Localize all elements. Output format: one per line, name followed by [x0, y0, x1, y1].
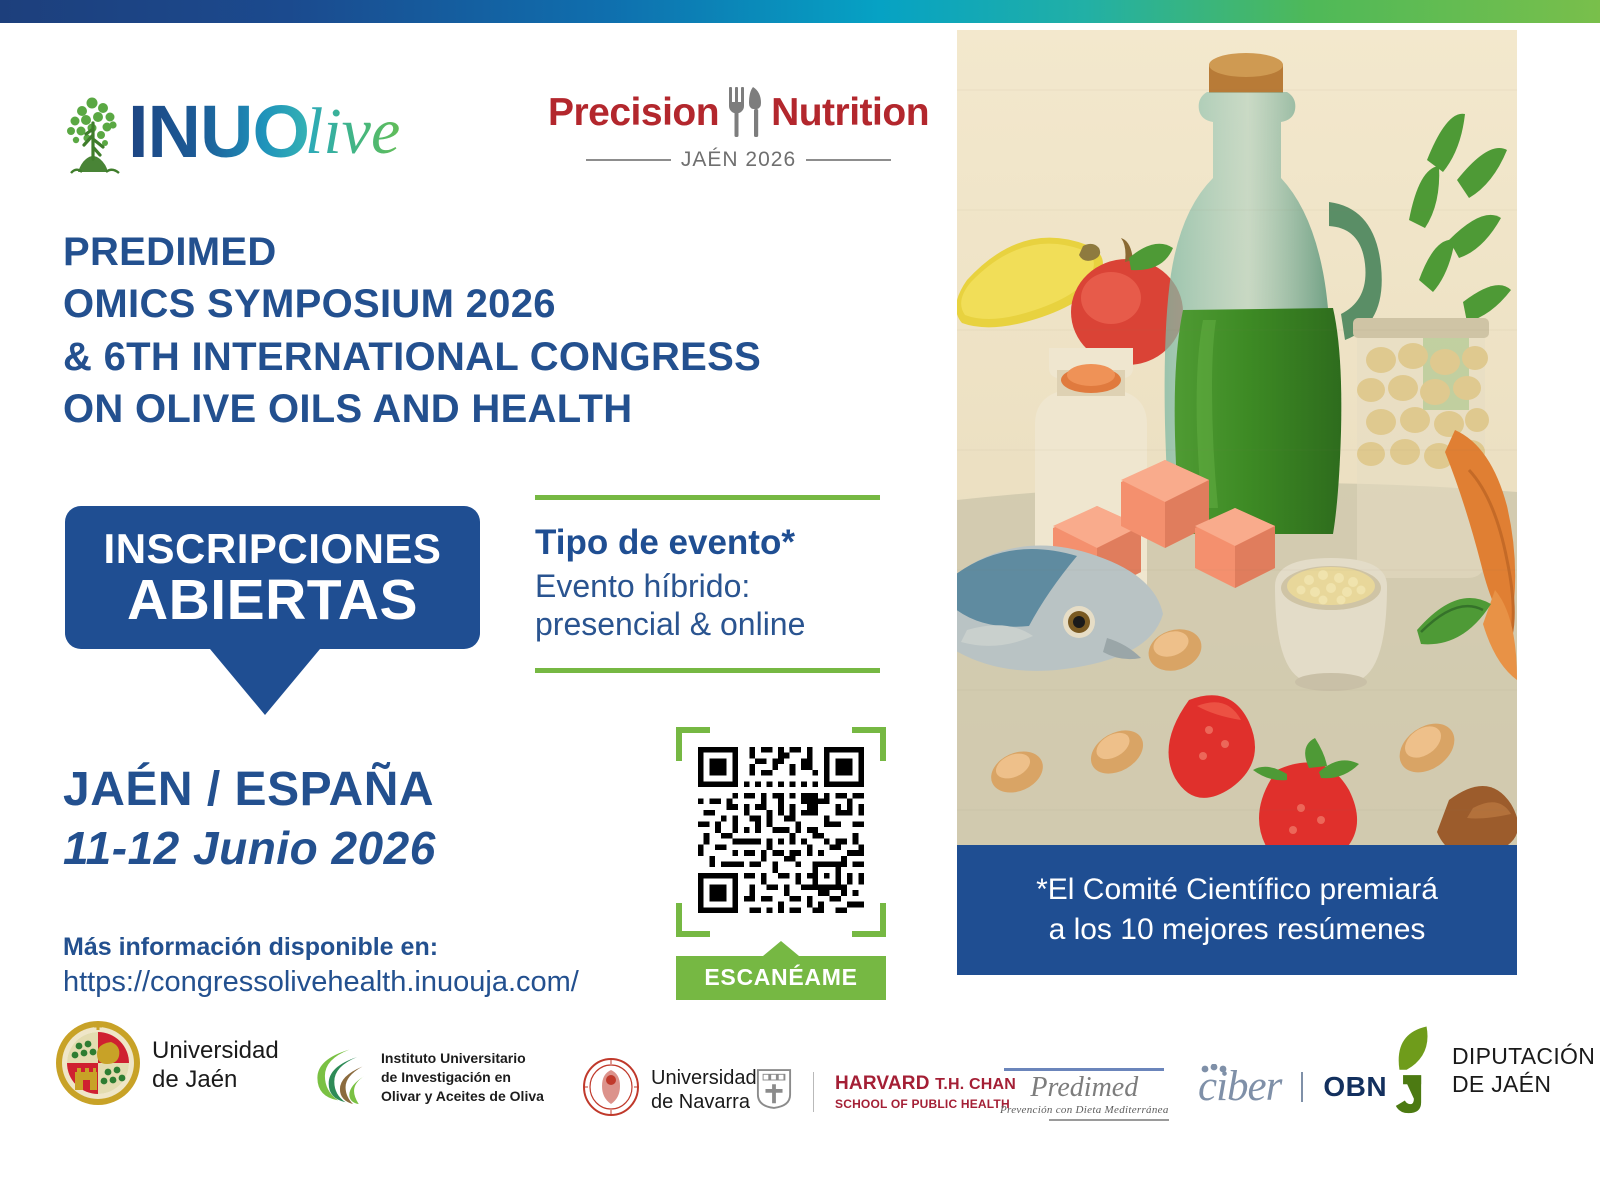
jaen-leaf-j-icon	[1385, 1022, 1441, 1119]
predimed-rule-top	[1004, 1068, 1164, 1071]
top-gradient-bar	[0, 0, 1600, 23]
logo-instituto-olivar[interactable]: Instituto Universitario de Investigación…	[308, 1044, 544, 1111]
obn-text: OBN	[1323, 1071, 1387, 1103]
registration-badge-pointer	[210, 649, 320, 715]
olive-drop-icon	[308, 1044, 370, 1111]
ciber-wordmark: ciber	[1198, 1068, 1281, 1107]
note-line1: *El Comité Científico premiará	[1036, 873, 1438, 906]
more-info-heading: Más información disponible en:	[63, 931, 579, 964]
uja-label: Universidad de Jaén	[152, 1037, 279, 1094]
precision-nutrition-top-row: Precision	[586, 85, 891, 139]
predimed-rule-bottom	[1049, 1119, 1169, 1121]
inuolive-logo[interactable]: INUO live	[62, 89, 400, 175]
predimed-name: Predimed	[1030, 1072, 1138, 1103]
unav-line2: de Navarra	[651, 1091, 750, 1113]
harvard-line3: SCHOOL OF PUBLIC HEALTH	[835, 1097, 1016, 1111]
uja-seal-icon	[55, 1020, 141, 1111]
more-info-block: Más información disponible en: https://c…	[63, 931, 579, 1001]
title-line-1: PREDIMED	[63, 226, 943, 278]
event-type-heading: Tipo de evento*	[535, 523, 880, 562]
registration-badge-line1: INSCRIPCIONES	[65, 528, 480, 571]
unav-line1: Universidad	[651, 1067, 757, 1089]
event-type-body-line2: presencial & online	[535, 606, 880, 644]
harvard-label: HARVARD T.H. CHAN SCHOOL OF PUBLIC HEALT…	[835, 1073, 1016, 1111]
qr-block[interactable]: ESCANÉAME	[676, 727, 886, 1000]
event-type-rule-bottom	[535, 668, 880, 673]
title-line-4: ON OLIVE OILS AND HEALTH	[63, 383, 943, 435]
event-type-body-line1: Evento híbrido:	[535, 568, 880, 606]
rule-left	[586, 159, 671, 161]
registration-badge-line2: ABIERTAS	[65, 571, 480, 629]
predimed-label: Predimed Prevención con Dieta Mediterrán…	[1000, 1068, 1169, 1121]
predimed-wordmark: Predimed	[1000, 1074, 1169, 1102]
precision-nutrition-logo[interactable]: Precision	[586, 85, 891, 172]
ciber-divider	[1301, 1072, 1303, 1102]
diputacion-label: DIPUTACIÓN DE JAÉN	[1452, 1043, 1595, 1097]
note-line2: a los 10 mejores resúmenes	[1049, 913, 1426, 946]
title-line-2: OMICS SYMPOSIUM 2026	[63, 278, 943, 330]
scan-me-pointer	[763, 941, 799, 956]
harvard-divider	[813, 1072, 814, 1112]
precision-word: Precision	[548, 93, 719, 132]
event-type-block: Tipo de evento* Evento híbrido: presenci…	[535, 495, 880, 673]
event-date: 11-12 Junio 2026	[63, 823, 436, 874]
instituto-olivar-label: Instituto Universitario de Investigación…	[381, 1049, 544, 1106]
logo-row: INUO live Precision	[62, 81, 892, 191]
rule-right	[806, 159, 891, 161]
registration-badge[interactable]: INSCRIPCIONES ABIERTAS	[65, 506, 480, 715]
unav-seal-icon	[582, 1058, 640, 1121]
uja-line1: Universidad	[152, 1037, 279, 1064]
registration-badge-body: INSCRIPCIONES ABIERTAS	[65, 506, 480, 649]
scan-me-label: ESCANÉAME	[676, 956, 886, 1000]
logo-universidad-de-navarra[interactable]: Universidad de Navarra	[582, 1058, 757, 1121]
scientific-committee-note: *El Comité Científico premiará a los 10 …	[957, 845, 1517, 975]
event-type-body: Evento híbrido: presencial & online	[535, 568, 880, 644]
title-line-3: & 6TH INTERNATIONAL CONGRESS	[63, 331, 943, 383]
nutrition-word: Nutrition	[771, 93, 929, 132]
instituto-line1: Instituto Universitario	[381, 1050, 526, 1066]
event-location: JAÉN / ESPAÑA	[63, 765, 434, 816]
unav-label: Universidad de Navarra	[651, 1066, 757, 1114]
diputacion-line1: DIPUTACIÓN	[1452, 1043, 1595, 1069]
instituto-line2: de Investigación en	[381, 1069, 511, 1085]
diputacion-line2: DE JAÉN	[1452, 1071, 1551, 1097]
precision-nutrition-year: JAÉN 2026	[681, 148, 796, 172]
harvard-line1: HARVARD	[835, 1073, 930, 1094]
page-title: PREDIMED OMICS SYMPOSIUM 2026 & 6TH INTE…	[63, 226, 943, 436]
qr-code-icon[interactable]	[698, 747, 864, 913]
logo-ciber-obn[interactable]: ciber OBN	[1198, 1068, 1387, 1107]
food-illustration	[957, 30, 1517, 845]
scan-me-button[interactable]: ESCANÉAME	[676, 941, 886, 1000]
congress-url-link[interactable]: https://congressolivehealth.inuouja.com/	[63, 964, 579, 1001]
logo-universidad-de-jaen[interactable]: Universidad de Jaén	[55, 1020, 279, 1111]
left-content-column: INUO live Precision	[0, 23, 957, 1000]
inuolive-wordmark-main: INUO	[128, 95, 309, 169]
inuolive-wordmark-script: live	[305, 99, 400, 165]
logo-predimed[interactable]: Predimed Prevención con Dieta Mediterrán…	[1000, 1068, 1169, 1121]
olive-tree-icon	[62, 89, 128, 175]
instituto-line3: Olivar y Aceites de Oliva	[381, 1088, 544, 1104]
logo-harvard-chan[interactable]: HARVARD T.H. CHAN SCHOOL OF PUBLIC HEALT…	[756, 1068, 1016, 1115]
qr-frame	[676, 727, 886, 937]
uja-line2: de Jaén	[152, 1066, 237, 1093]
logo-diputacion-de-jaen[interactable]: DIPUTACIÓN DE JAÉN	[1385, 1022, 1595, 1119]
fork-knife-icon	[723, 85, 767, 139]
event-type-rule-top	[535, 495, 880, 500]
harvard-shield-icon	[756, 1068, 792, 1115]
poster-root: INUO live Precision	[0, 0, 1600, 1200]
predimed-tagline: Prevención con Dieta Mediterránea	[1000, 1104, 1169, 1116]
precision-nutrition-year-row: JAÉN 2026	[586, 148, 891, 172]
